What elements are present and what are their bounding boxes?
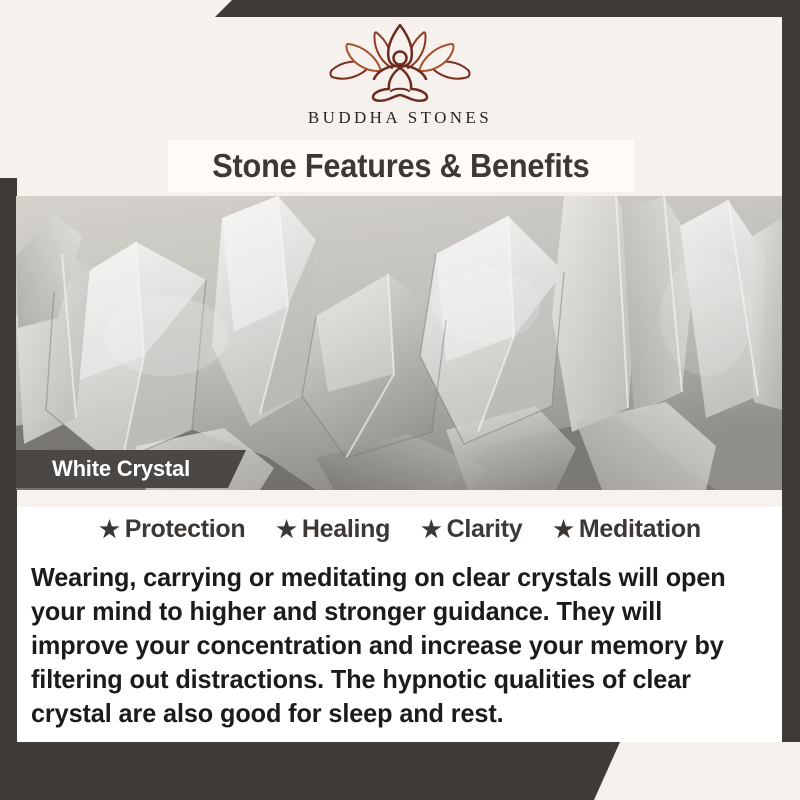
star-icon: ★ [553, 516, 574, 543]
crystal-photo [16, 196, 782, 490]
benefit-label: Protection [125, 515, 246, 543]
benefit-item-clarity: ★Clarity [421, 515, 522, 544]
stone-name-badge: White Crystal [16, 450, 246, 488]
frame-bottom-right-fill [600, 742, 800, 800]
header: BUDDHA STONES Stone Features & Benefits [0, 0, 800, 196]
benefits-list: ★Protection ★Healing ★Clarity ★Meditatio… [0, 515, 800, 544]
page-title: Stone Features & Benefits [212, 147, 589, 185]
stone-info-card: BUDDHA STONES Stone Features & Benefits [0, 0, 800, 800]
benefit-label: Meditation [579, 515, 701, 543]
benefit-label: Clarity [447, 515, 523, 543]
star-icon: ★ [99, 516, 120, 543]
brand-name: BUDDHA STONES [308, 108, 492, 128]
panel-top-strip [17, 490, 782, 507]
benefit-item-healing: ★Healing [276, 515, 390, 544]
description-text: Wearing, carrying or meditating on clear… [31, 560, 736, 730]
lotus-meditation-icon [325, 22, 475, 104]
star-icon: ★ [421, 516, 442, 543]
benefit-label: Healing [302, 515, 390, 543]
stone-name-text: White Crystal [52, 456, 190, 482]
frame-left-bar [0, 178, 17, 800]
star-icon: ★ [276, 516, 297, 543]
benefit-item-meditation: ★Meditation [553, 515, 701, 544]
benefit-item-protection: ★Protection [99, 515, 245, 544]
frame-bottom-bar [0, 742, 620, 800]
page-title-box: Stone Features & Benefits [168, 140, 634, 192]
brand-logo: BUDDHA STONES [0, 22, 800, 128]
